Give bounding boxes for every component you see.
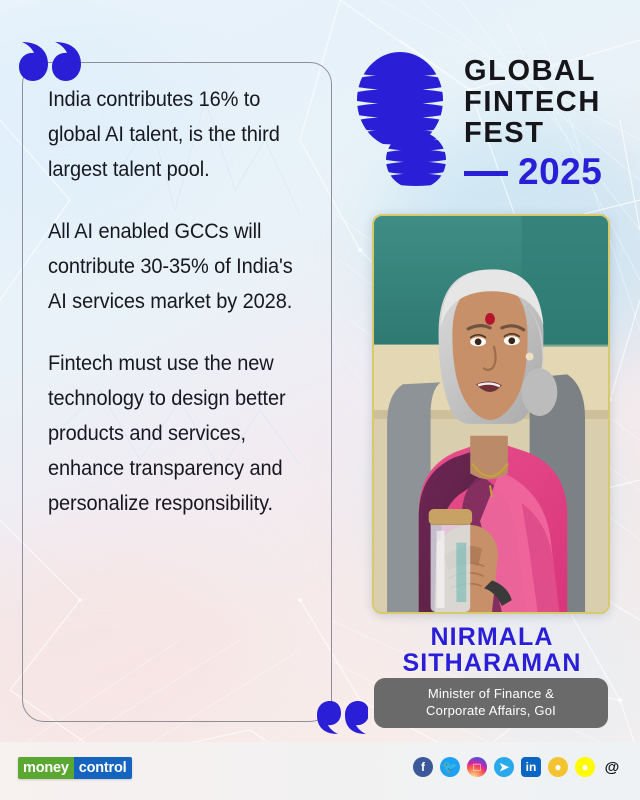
quote-close-icon: [316, 700, 368, 738]
event-logo-line-1: GLOBAL: [464, 56, 602, 87]
event-logo-line-3: FEST: [464, 118, 602, 149]
moneycontrol-logo-control: control: [74, 757, 132, 779]
quote-paragraph-1: India contributes 16% to global AI talen…: [48, 82, 307, 187]
poster-canvas: India contributes 16% to global AI talen…: [0, 0, 640, 800]
instagram-icon[interactable]: □: [467, 757, 487, 777]
quote-open-icon: [18, 38, 82, 84]
speaker-name-line-1: NIRMALA: [356, 624, 628, 650]
quote-text-block: India contributes 16% to global AI talen…: [48, 82, 307, 521]
global-fintech-fest-logo: GLOBAL FINTECH FEST 2025: [356, 48, 618, 196]
speaker-name-line-2: SITHARAMAN: [356, 650, 628, 676]
social-links: f 🐦 □ ➤ in ● ● @: [413, 757, 622, 777]
striped-globe-icon: [356, 48, 452, 190]
speaker-name: NIRMALA SITHARAMAN: [356, 624, 628, 676]
event-logo-dash: [464, 171, 508, 176]
speaker-role-line-1: Minister of Finance &: [382, 685, 600, 702]
speaker-role-badge: Minister of Finance & Corporate Affairs,…: [374, 678, 608, 728]
event-logo-year-row: 2025: [464, 153, 602, 190]
moneycontrol-logo[interactable]: money control: [18, 757, 132, 779]
quote-paragraph-2: All AI enabled GCCs will contribute 30-3…: [48, 214, 307, 319]
linkedin-icon[interactable]: in: [521, 757, 541, 777]
moneycontrol-logo-money: money: [18, 757, 74, 779]
twitter-icon[interactable]: 🐦: [440, 757, 460, 777]
event-logo-year: 2025: [518, 153, 602, 190]
event-logo-line-2: FINTECH: [464, 87, 602, 118]
speaker-role-line-2: Corporate Affairs, GoI: [382, 702, 600, 719]
event-logo-wordmark: GLOBAL FINTECH FEST 2025: [464, 48, 602, 190]
speaker-photo: [372, 214, 610, 614]
threads-icon[interactable]: @: [602, 757, 622, 777]
facebook-icon[interactable]: f: [413, 757, 433, 777]
speaker-photo-image: [374, 216, 608, 612]
telegram-icon[interactable]: ➤: [494, 757, 514, 777]
quote-paragraph-3: Fintech must use the new technology to d…: [48, 346, 307, 521]
snapchat-icon[interactable]: ●: [575, 757, 595, 777]
koo-icon[interactable]: ●: [548, 757, 568, 777]
